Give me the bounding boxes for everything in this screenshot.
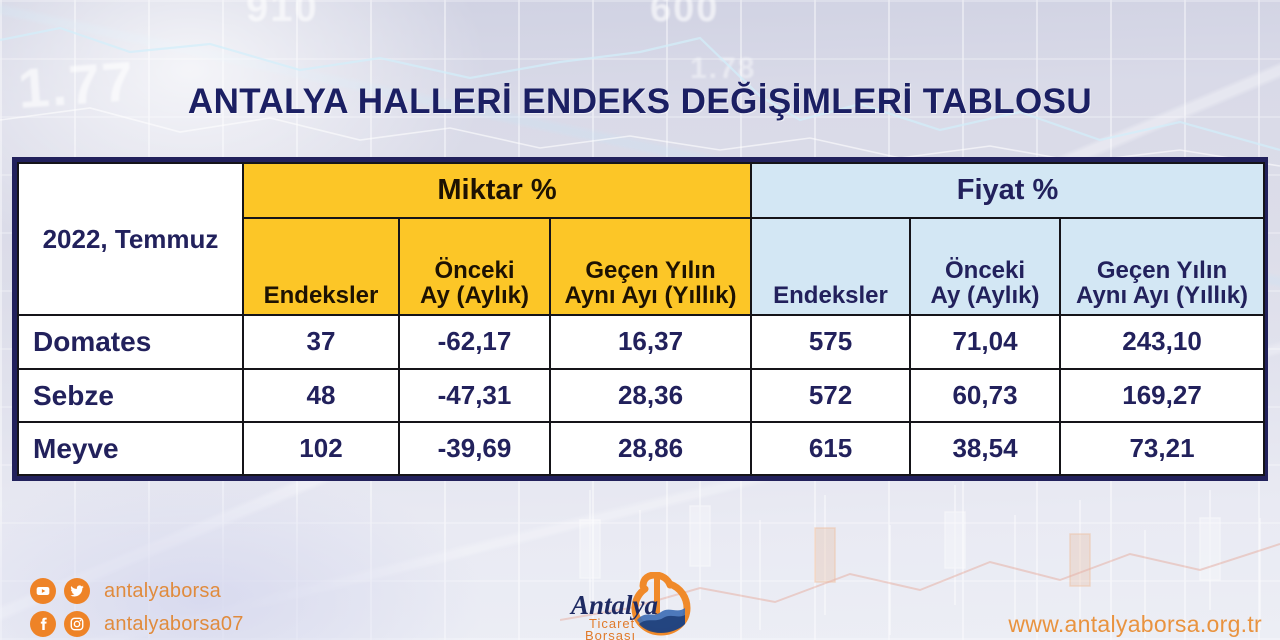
facebook-icon[interactable]: [30, 611, 56, 637]
cell-sebze-miktar-onceki-ay: -47,31: [399, 369, 550, 422]
subheader-line2: Aynı Ayı (Yıllık): [553, 284, 748, 309]
subheader-line1: Geçen Yılın: [553, 259, 748, 284]
cell-sebze-fiyat-endeksler: 572: [751, 369, 910, 422]
data-table-container: 2022, Temmuz Miktar % Fiyat % Endeksler …: [12, 157, 1268, 481]
social-line-1: antalyaborsa: [30, 578, 244, 604]
group-header-miktar: Miktar %: [243, 163, 751, 218]
index-changes-table: 2022, Temmuz Miktar % Fiyat % Endeksler …: [17, 162, 1265, 476]
row-label-domates: Domates: [18, 315, 243, 368]
subheader-miktar-onceki-ay: Önceki Ay (Aylık): [399, 218, 550, 315]
period-label-cell: 2022, Temmuz: [18, 163, 243, 315]
social-links: antalyaborsa antalyaborsa07: [30, 578, 244, 637]
row-label-sebze: Sebze: [18, 369, 243, 422]
subheader-miktar-endeksler: Endeksler: [243, 218, 399, 315]
cell-domates-fiyat-endeksler: 575: [751, 315, 910, 368]
website-url[interactable]: www.antalyaborsa.org.tr: [1008, 611, 1262, 638]
cell-sebze-fiyat-gecen-yil: 169,27: [1060, 369, 1264, 422]
social-handle-2[interactable]: antalyaborsa07: [104, 613, 244, 636]
row-label-meyve: Meyve: [18, 422, 243, 475]
poster-root: 1.77 910 600 1.78 ANTALYA HALLERİ ENDEKS…: [0, 0, 1280, 640]
youtube-icon[interactable]: [30, 578, 56, 604]
svg-text:Borsası: Borsası: [585, 628, 636, 640]
cell-sebze-miktar-endeksler: 48: [243, 369, 399, 422]
social-line-2: antalyaborsa07: [30, 611, 244, 637]
cell-meyve-miktar-endeksler: 102: [243, 422, 399, 475]
cell-domates-fiyat-onceki-ay: 71,04: [910, 315, 1060, 368]
cell-meyve-miktar-gecen-yil: 28,86: [550, 422, 751, 475]
page-title: ANTALYA HALLERİ ENDEKS DEĞİŞİMLERİ TABLO…: [0, 82, 1280, 122]
group-header-fiyat: Fiyat %: [751, 163, 1264, 218]
instagram-icon[interactable]: [64, 611, 90, 637]
subheader-line1: Önceki: [913, 259, 1057, 284]
table-row: Sebze 48 -47,31 28,36 572 60,73 169,27: [18, 369, 1264, 422]
subheader-line2: Aynı Ayı (Yıllık): [1063, 284, 1261, 309]
subheader-line2: Endeksler: [246, 284, 396, 309]
table-group-header-row: 2022, Temmuz Miktar % Fiyat %: [18, 163, 1264, 218]
cell-sebze-miktar-gecen-yil: 28,36: [550, 369, 751, 422]
cell-meyve-miktar-onceki-ay: -39,69: [399, 422, 550, 475]
subheader-fiyat-endeksler: Endeksler: [751, 218, 910, 315]
cell-domates-fiyat-gecen-yil: 243,10: [1060, 315, 1264, 368]
subheader-line2: Ay (Aylık): [913, 284, 1057, 309]
cell-domates-miktar-onceki-ay: -62,17: [399, 315, 550, 368]
cell-domates-miktar-endeksler: 37: [243, 315, 399, 368]
social-handle-1[interactable]: antalyaborsa: [104, 580, 221, 603]
cell-meyve-fiyat-gecen-yil: 73,21: [1060, 422, 1264, 475]
table-row: Domates 37 -62,17 16,37 575 71,04 243,10: [18, 315, 1264, 368]
subheader-fiyat-onceki-ay: Önceki Ay (Aylık): [910, 218, 1060, 315]
table-row: Meyve 102 -39,69 28,86 615 38,54 73,21: [18, 422, 1264, 475]
cell-meyve-fiyat-onceki-ay: 38,54: [910, 422, 1060, 475]
cell-sebze-fiyat-onceki-ay: 60,73: [910, 369, 1060, 422]
subheader-line2: Ay (Aylık): [402, 284, 547, 309]
cell-meyve-fiyat-endeksler: 615: [751, 422, 910, 475]
subheader-line1: Geçen Yılın: [1063, 259, 1261, 284]
subheader-miktar-gecen-yil: Geçen Yılın Aynı Ayı (Yıllık): [550, 218, 751, 315]
antalya-ticaret-borsasi-logo: Antalya Ticaret Borsası: [565, 572, 731, 640]
twitter-icon[interactable]: [64, 578, 90, 604]
subheader-fiyat-gecen-yil: Geçen Yılın Aynı Ayı (Yıllık): [1060, 218, 1264, 315]
cell-domates-miktar-gecen-yil: 16,37: [550, 315, 751, 368]
subheader-line2: Endeksler: [754, 284, 907, 309]
subheader-line1: Önceki: [402, 259, 547, 284]
